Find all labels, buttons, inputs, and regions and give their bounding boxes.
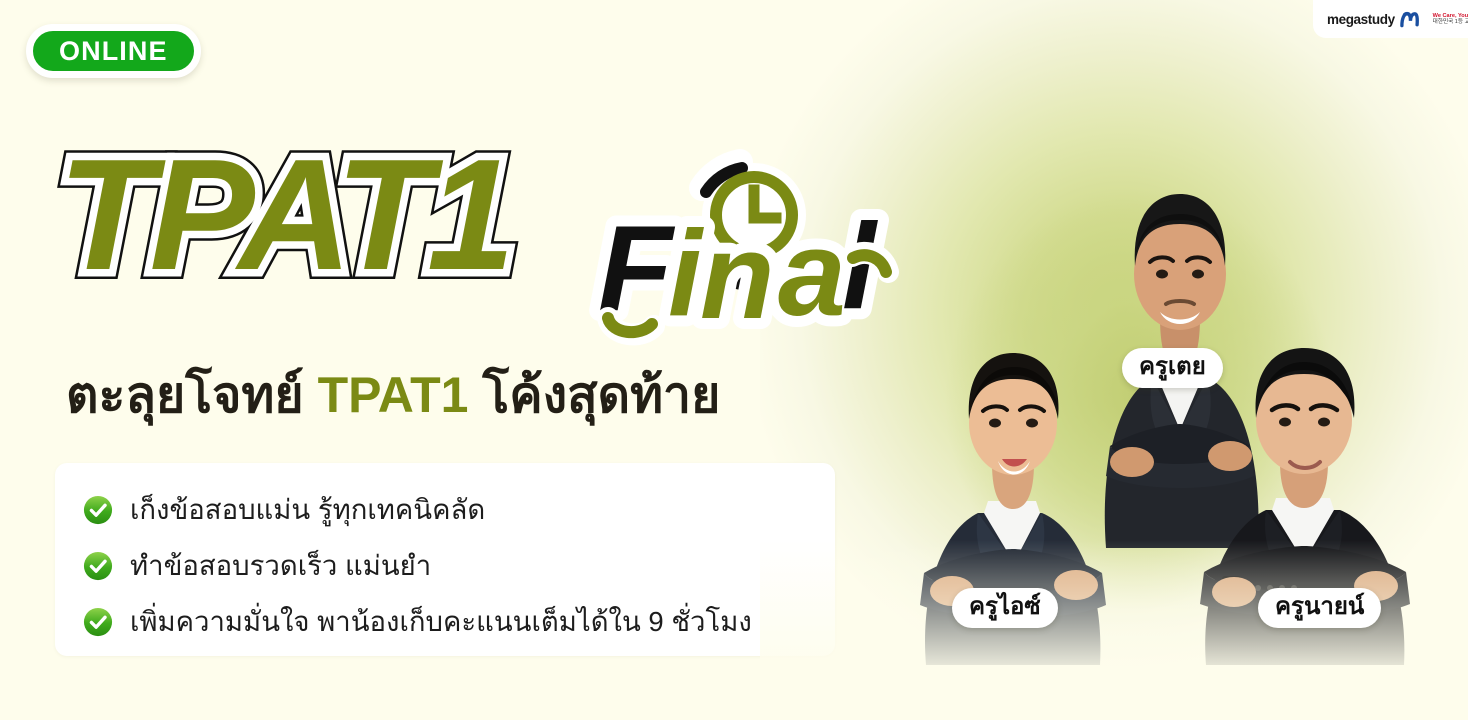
list-item-label: ทำข้อสอบรวดเร็ว แม่นยำ (130, 552, 431, 580)
title-tpat1: TPAT1 TPAT1 TPAT1 (58, 136, 510, 294)
teacher-name-badge: ครูเตย (1122, 348, 1223, 388)
teacher-name-badge: ครูไอซ์ (952, 588, 1058, 628)
list-item-label: เพิ่มความมั่นใจ พาน้องเก็บคะแนนเต็มได้ใน… (130, 608, 752, 636)
svg-text:i: i (668, 205, 704, 341)
online-badge-label: ONLINE (59, 38, 168, 65)
list-item: เก็งข้อสอบแม่น รู้ทุกเทคนิคลัด (83, 485, 835, 535)
megastudy-m-mark (1400, 11, 1419, 28)
headline-accent: TPAT1 (318, 367, 469, 423)
megastudy-logo[interactable]: megastudy We Care, You Succeed 대한민국 1등 교… (1313, 0, 1468, 38)
teacher-name-badge: ครูนายน์ (1258, 588, 1381, 628)
title-tpat1-fill: TPAT1 (58, 136, 510, 294)
megastudy-wordmark: megastudy (1327, 12, 1395, 27)
check-circle-icon (83, 551, 113, 581)
page-headline: ตะลุยโจทย์ TPAT1 โค้งสุดท้าย (66, 366, 720, 425)
online-badge: ONLINE (26, 24, 201, 78)
logo-tagline-kr: 대한민국 1등 교육 기업 (1433, 19, 1468, 25)
title-final: F i n a l F i n a l (590, 160, 910, 340)
list-item: ทำข้อสอบรวดเร็ว แม่นยำ (83, 541, 835, 591)
check-circle-icon (83, 495, 113, 525)
promotional-banner: ONLINE megastudy We Care, You Succeed 대한… (0, 0, 1468, 720)
headline-suffix: โค้งสุดท้าย (469, 367, 721, 423)
logo-tagline: We Care, You Succeed 대한민국 1등 교육 기업 (1433, 13, 1468, 26)
title-final-art: F i n a l F i n a l (590, 160, 910, 340)
check-circle-icon (83, 607, 113, 637)
list-item-label: เก็งข้อสอบแม่น รู้ทุกเทคนิคลัด (130, 496, 485, 524)
svg-text:a: a (778, 205, 846, 341)
headline-prefix: ตะลุยโจทย์ (66, 367, 318, 423)
feature-list-card: เก็งข้อสอบแม่น รู้ทุกเทคนิคลัด ทำข้อสอบร… (55, 463, 835, 656)
background-bottom-fade (760, 540, 1468, 720)
list-item: เพิ่มความมั่นใจ พาน้องเก็บคะแนนเต็มได้ใน… (83, 597, 835, 647)
svg-text:n: n (700, 208, 775, 344)
